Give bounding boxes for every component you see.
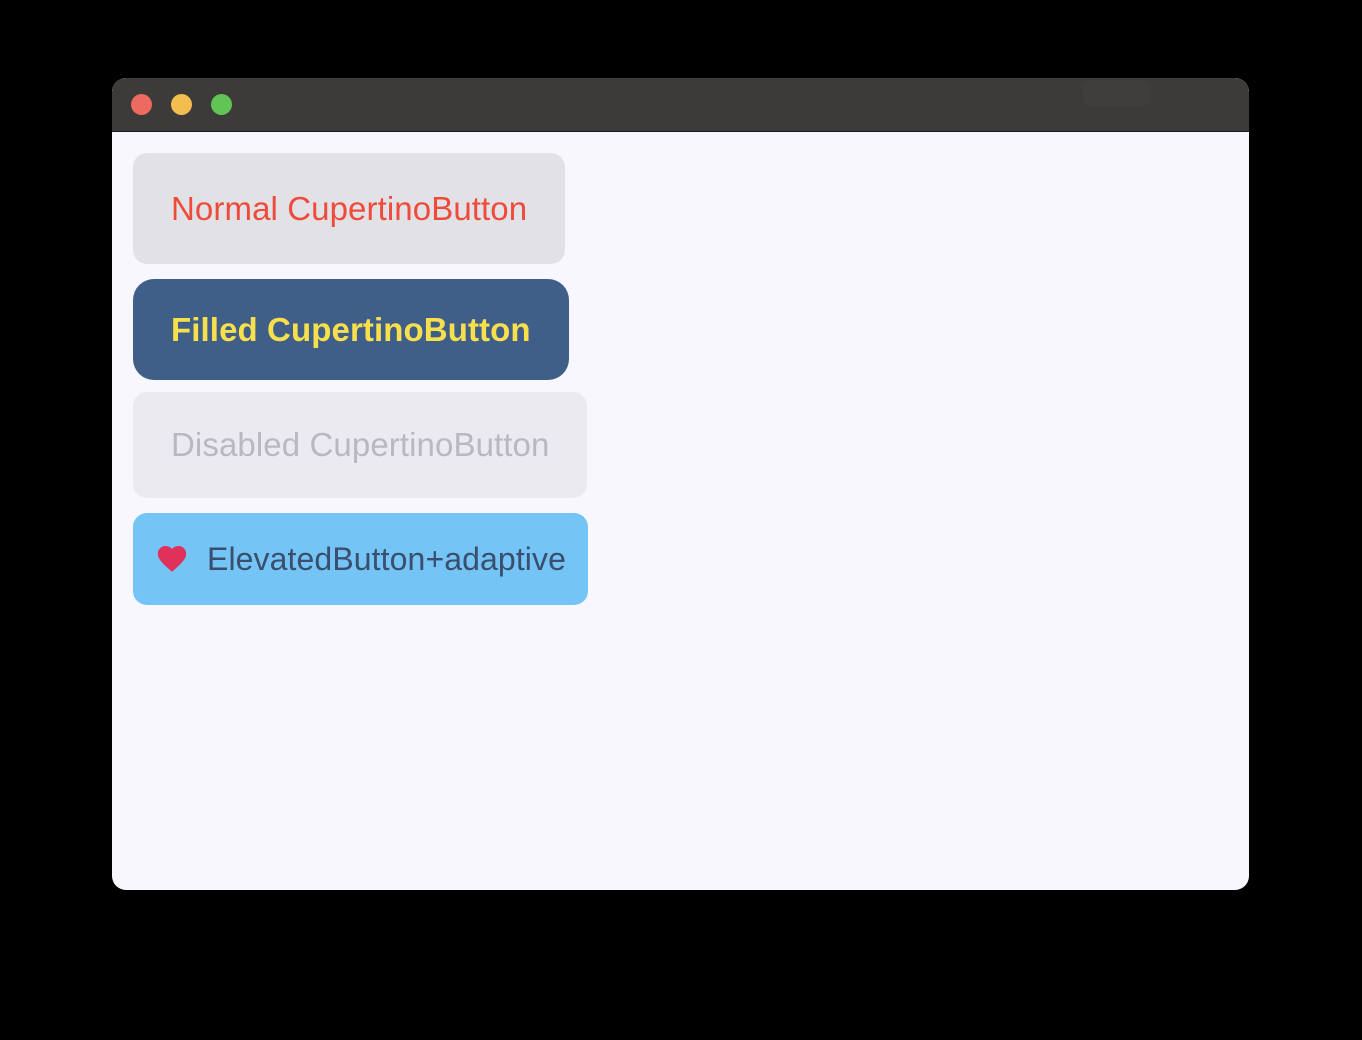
traffic-light-group (131, 94, 232, 115)
zoom-window-button[interactable] (211, 94, 232, 115)
heart-icon (155, 542, 189, 576)
minimize-window-button[interactable] (171, 94, 192, 115)
titlebar-drag-region[interactable] (1083, 80, 1151, 106)
elevated-button-adaptive[interactable]: ElevatedButton+adaptive (133, 513, 588, 605)
normal-cupertino-button[interactable]: Normal CupertinoButton (133, 153, 565, 264)
app-window: Normal CupertinoButton Filled CupertinoB… (112, 78, 1249, 890)
disabled-cupertino-button: Disabled CupertinoButton (133, 392, 587, 498)
normal-cupertino-button-label: Normal CupertinoButton (171, 190, 527, 228)
button-stack: Normal CupertinoButton Filled CupertinoB… (133, 153, 1249, 605)
filled-cupertino-button[interactable]: Filled CupertinoButton (133, 279, 569, 380)
disabled-cupertino-button-label: Disabled CupertinoButton (171, 426, 549, 464)
window-content: Normal CupertinoButton Filled CupertinoB… (112, 132, 1249, 890)
filled-cupertino-button-label: Filled CupertinoButton (171, 311, 531, 349)
elevated-button-adaptive-label: ElevatedButton+adaptive (207, 541, 566, 578)
window-titlebar (112, 78, 1249, 132)
close-window-button[interactable] (131, 94, 152, 115)
